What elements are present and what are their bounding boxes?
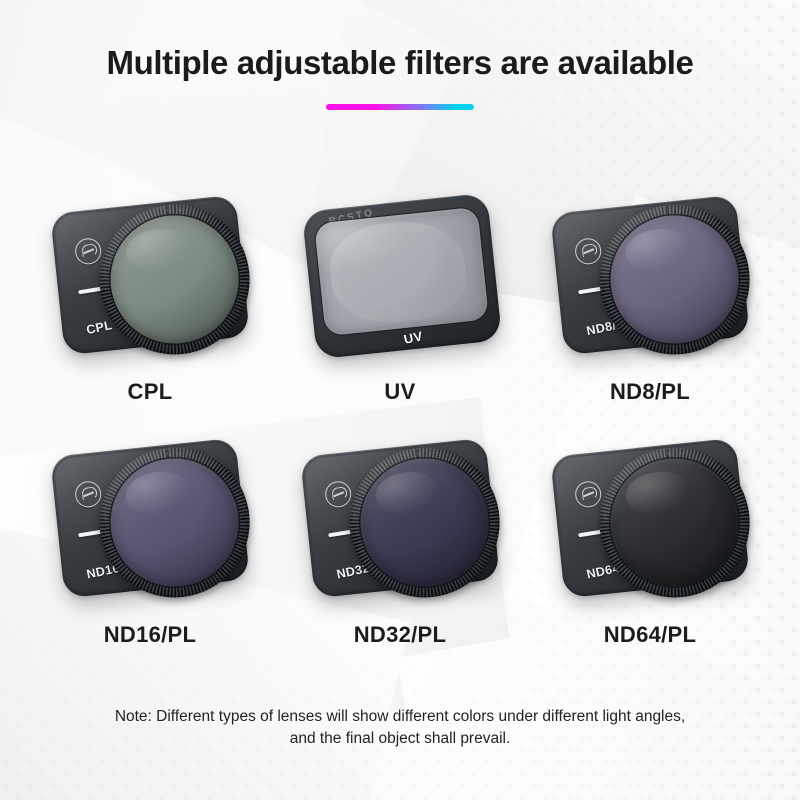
knurled-ring	[592, 440, 757, 605]
filter-card-nd8pl[interactable]: ND8/PL ND8/PL	[525, 196, 775, 405]
product-image-cpl: CPL	[35, 196, 265, 371]
filter-caption: UV	[384, 379, 415, 405]
engraved-label: CPL	[85, 318, 114, 337]
lens-glass	[604, 452, 745, 593]
knurled-ring	[592, 197, 757, 362]
filter-card-uv[interactable]: RCSTQ UV UV	[275, 196, 525, 405]
product-image-uv: RCSTQ UV	[285, 196, 515, 371]
filter-card-nd64pl[interactable]: ND64/PL ND64/PL	[525, 439, 775, 648]
engraved-label: UV	[402, 328, 424, 347]
note-line-1: Note: Different types of lenses will sho…	[115, 708, 685, 725]
knurled-ring	[342, 440, 507, 605]
filter-caption: CPL	[128, 379, 173, 405]
brand-logo-icon	[74, 237, 103, 266]
filter-card-cpl[interactable]: CPL CPL	[25, 196, 275, 405]
product-image-nd16pl: ND16/PL	[35, 439, 265, 614]
product-image-nd8pl: ND8/PL	[535, 196, 765, 371]
filter-caption: ND32/PL	[354, 622, 447, 648]
filter-body: CPL	[50, 195, 250, 356]
filter-caption: ND8/PL	[610, 379, 690, 405]
product-feature-page: Multiple adjustable filters are availabl…	[0, 0, 800, 800]
product-image-nd64pl: ND64/PL	[535, 439, 765, 614]
knurled-ring	[92, 197, 257, 362]
lens-glass	[104, 452, 245, 593]
filter-row: CPL CPL RCSTQ UV UV	[0, 196, 800, 405]
filter-caption: ND16/PL	[104, 622, 197, 648]
lens-glass	[604, 209, 745, 350]
filter-body: ND64/PL	[550, 438, 750, 599]
filter-body: ND8/PL	[550, 195, 750, 356]
brand-logo-icon	[574, 237, 603, 266]
filter-body: ND32/PL	[300, 438, 500, 599]
knurled-ring	[92, 440, 257, 605]
page-title: Multiple adjustable filters are availabl…	[0, 44, 800, 82]
product-image-nd32pl: ND32/PL	[285, 439, 515, 614]
filter-body: ND16/PL	[50, 438, 250, 599]
lens-glass	[354, 452, 495, 593]
filter-caption: ND64/PL	[604, 622, 697, 648]
brand-logo-icon	[324, 480, 353, 509]
header: Multiple adjustable filters are availabl…	[0, 44, 800, 110]
filter-body: RCSTQ UV	[302, 193, 502, 360]
filter-row: ND16/PL ND16/PL ND32/PL	[0, 439, 800, 648]
lens-glass	[104, 209, 245, 350]
filter-card-nd32pl[interactable]: ND32/PL ND32/PL	[275, 439, 525, 648]
filter-card-nd16pl[interactable]: ND16/PL ND16/PL	[25, 439, 275, 648]
filter-grid: CPL CPL RCSTQ UV UV	[0, 196, 800, 648]
note-line-2: and the final object shall prevail.	[0, 728, 800, 750]
brand-logo-icon	[574, 480, 603, 509]
brand-logo-icon	[74, 480, 103, 509]
gradient-divider	[326, 104, 474, 110]
footer-note: Note: Different types of lenses will sho…	[0, 706, 800, 750]
lens-glass	[314, 207, 489, 337]
